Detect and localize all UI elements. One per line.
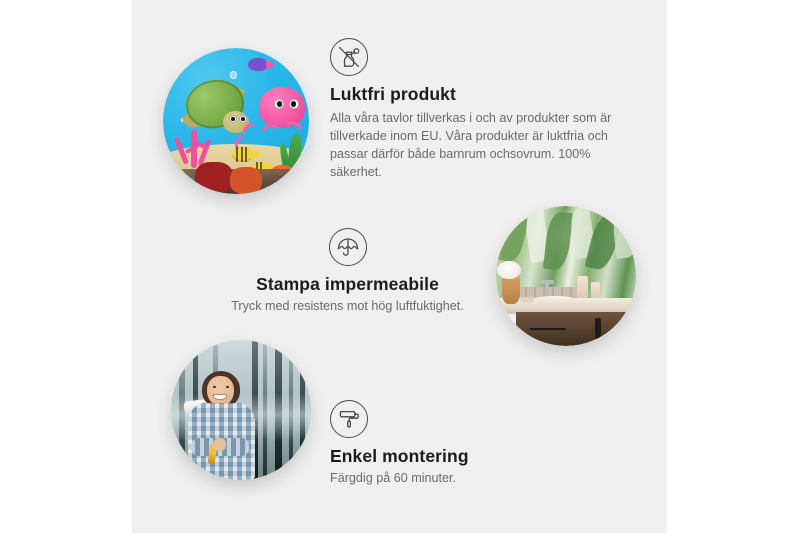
woman-paint-roller-forest-photo — [171, 340, 311, 480]
feature-title: Stampa impermeabile — [205, 274, 490, 295]
feature-waterproof: Stampa impermeabile Tryck med resistens … — [205, 228, 490, 316]
feature-title: Enkel montering — [330, 446, 590, 467]
feature-description: Tryck med resistens mot hög luftfuktighe… — [205, 298, 490, 316]
underwater-cartoon-wallpaper-photo — [163, 48, 309, 194]
feature-easy-install: Enkel montering Färgdig på 60 minuter. — [330, 400, 590, 488]
product-feature-banner: Luktfri produkt Alla våra tavlor tillver… — [0, 0, 800, 533]
feature-odourless: Luktfri produkt Alla våra tavlor tillver… — [330, 38, 625, 182]
bathroom-tropical-wallpaper-photo — [496, 206, 636, 346]
paint-roller-icon — [330, 400, 368, 438]
no-fragrance-icon — [330, 38, 368, 76]
feature-description: Färgdig på 60 minuter. — [330, 470, 590, 488]
feature-title: Luktfri produkt — [330, 84, 625, 105]
feature-description: Alla våra tavlor tillverkas i och av pro… — [330, 110, 625, 182]
umbrella-icon — [329, 228, 367, 266]
